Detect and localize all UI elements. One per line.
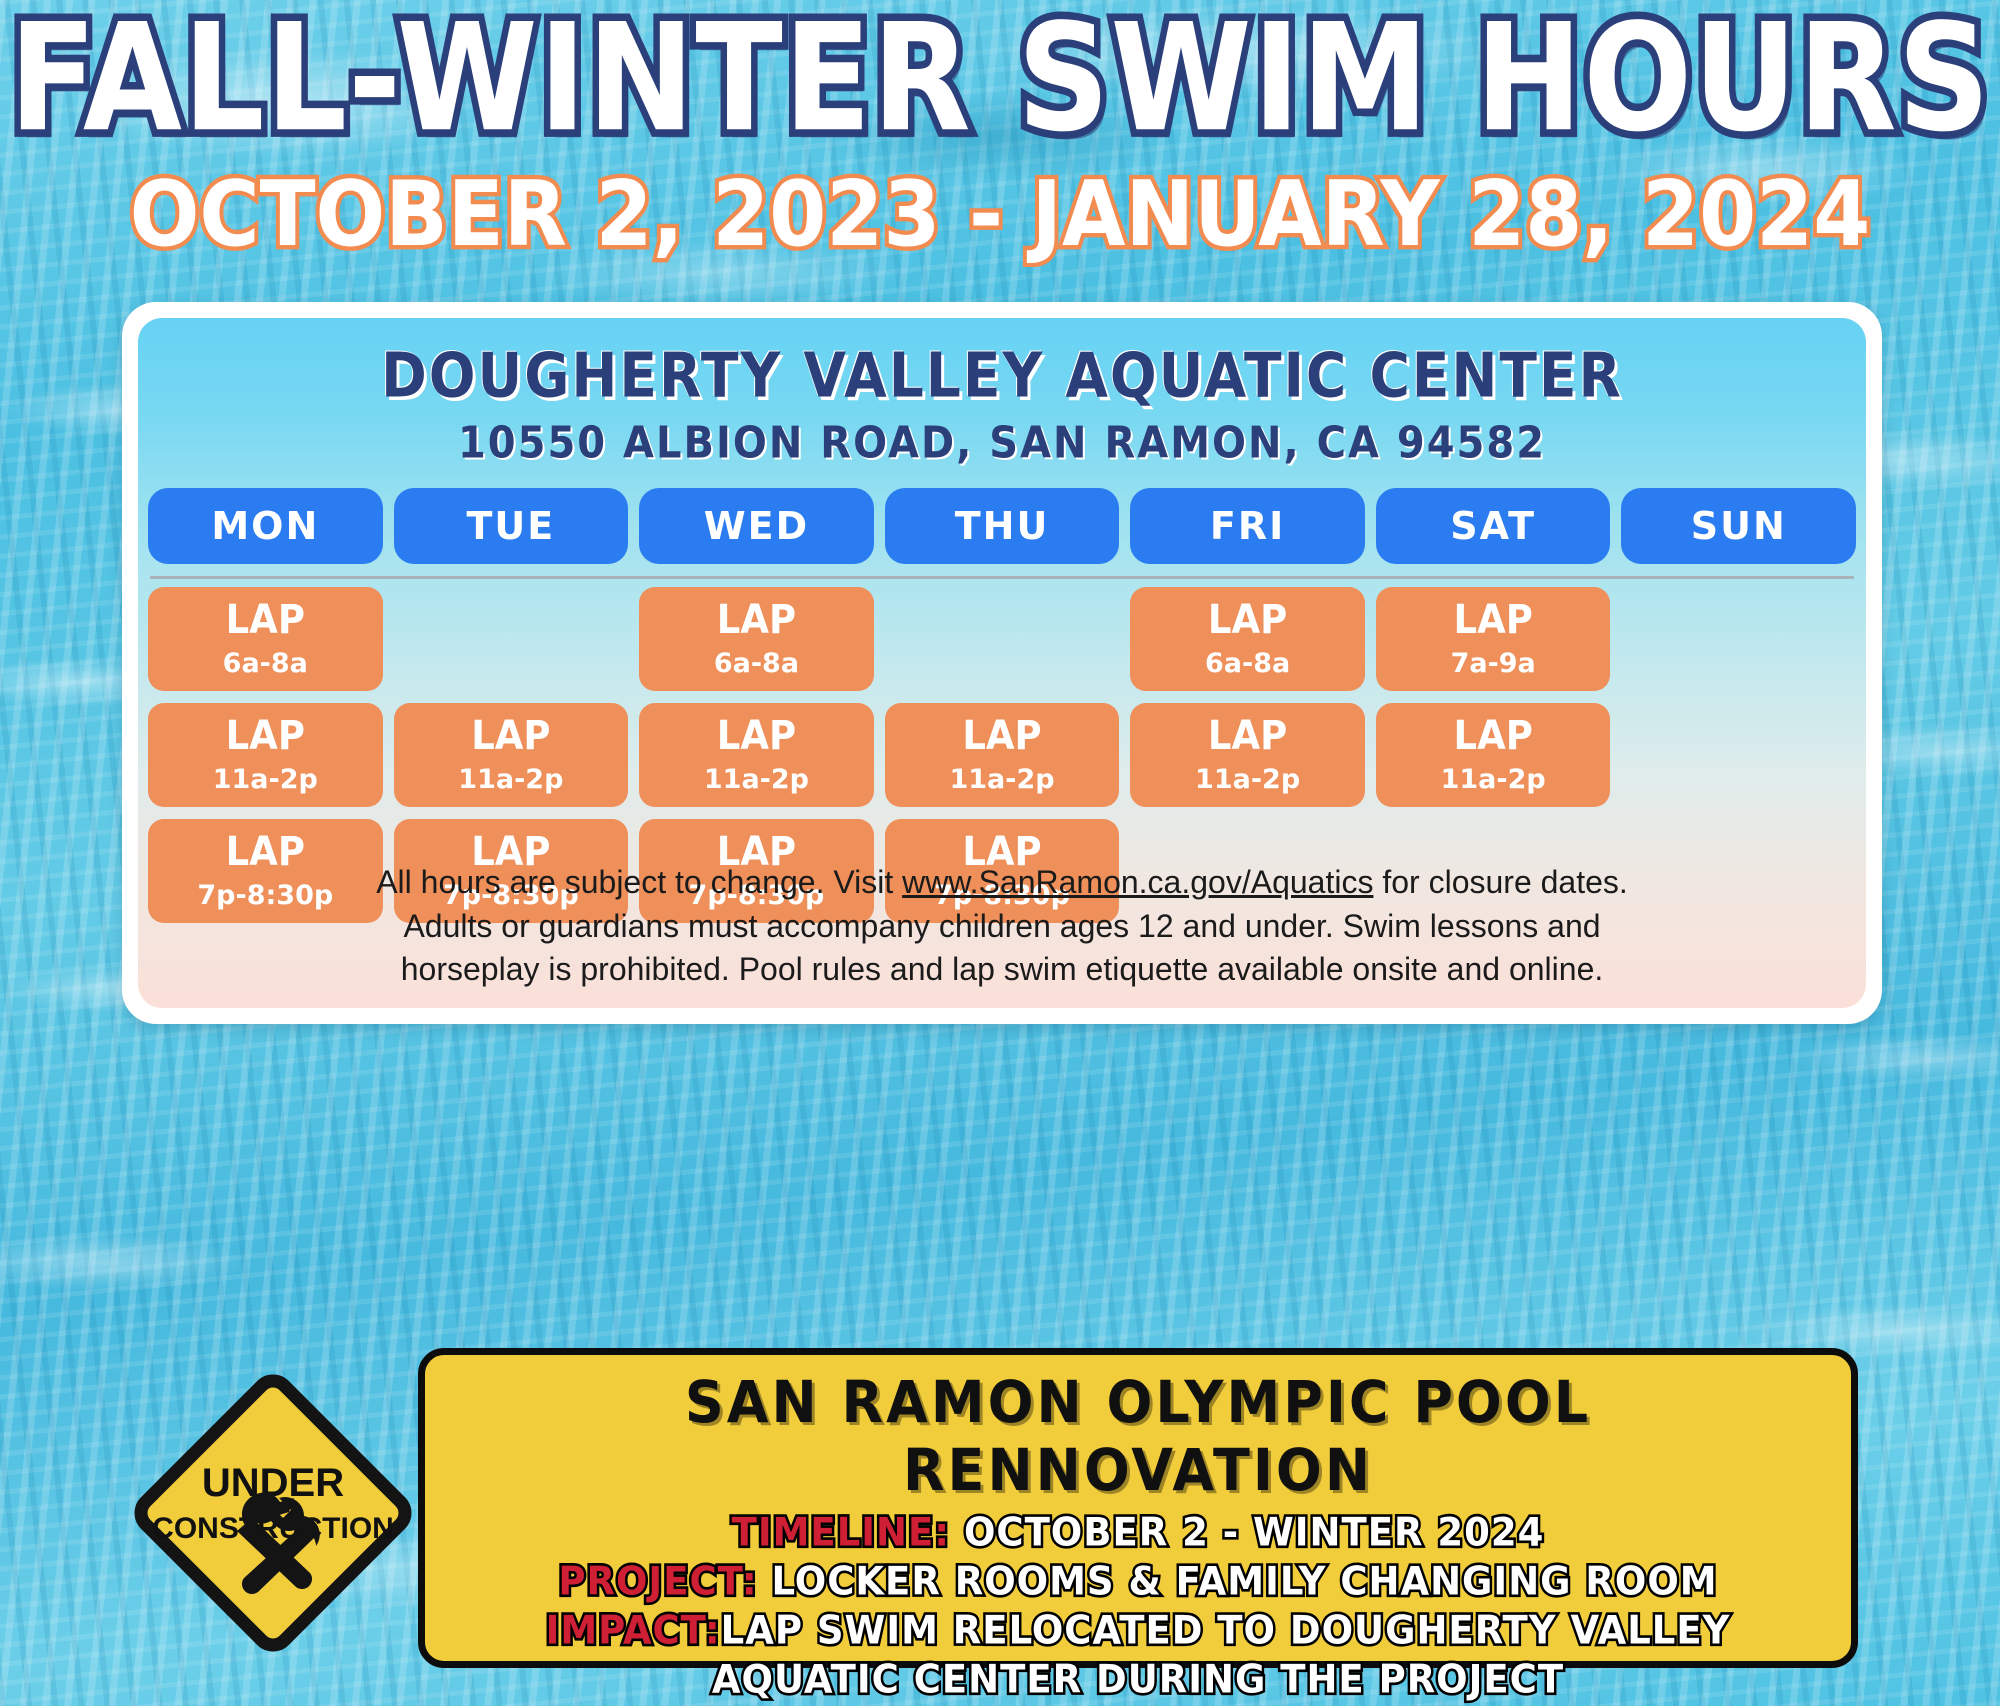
lap-swim-block-sat-1[interactable]: LAP11a-2p [1376, 703, 1611, 807]
day-header-tue[interactable]: TUE [394, 488, 629, 564]
lap-swim-block-mon-0[interactable]: LAP6a-8a [148, 587, 383, 691]
slot-cell-fri: LAP6a-8a [1130, 587, 1365, 691]
impact-label: IMPACT: [546, 1608, 721, 1654]
lap-swim-block-fri-0[interactable]: LAP6a-8a [1130, 587, 1365, 691]
schedule-card-inner: DOUGHERTY VALLEY AQUATIC CENTER 10550 AL… [138, 318, 1866, 1008]
day-header-row: MONTUEWEDTHUFRISATSUN [138, 488, 1866, 564]
schedule-row: LAP11a-2pLAP11a-2pLAP11a-2pLAP11a-2pLAP1… [148, 703, 1856, 807]
disclaimer-line1-before: All hours are subject to change. Visit [376, 864, 902, 900]
lap-swim-block-fri-1[interactable]: LAP11a-2p [1130, 703, 1365, 807]
venue-address: 10550 ALBION ROAD, SAN RAMON, CA 94582 [138, 418, 1866, 469]
slot-label: LAP [1208, 600, 1287, 640]
slot-time: 6a-8a [714, 650, 799, 677]
slot-cell-sat: LAP7a-9a [1376, 587, 1611, 691]
slot-label: LAP [962, 716, 1041, 756]
slot-cell-tue: LAP11a-2p [394, 703, 629, 807]
slot-time: 6a-8a [223, 650, 308, 677]
title-block: FALL-WINTER SWIM HOURS OCTOBER 2, 2023 -… [0, 0, 2000, 262]
slot-cell-mon: LAP6a-8a [148, 587, 383, 691]
slot-time: 11a-2p [704, 766, 809, 793]
schedule-card: DOUGHERTY VALLEY AQUATIC CENTER 10550 AL… [122, 302, 1882, 1024]
venue-name: DOUGHERTY VALLEY AQUATIC CENTER [138, 318, 1866, 411]
disclaimer-line-2: Adults or guardians must accompany child… [168, 905, 1836, 949]
lap-swim-block-sat-0[interactable]: LAP7a-9a [1376, 587, 1611, 691]
project-label: PROJECT: [558, 1559, 757, 1605]
slot-cell-thu: LAP11a-2p [885, 703, 1120, 807]
slot-cell-sat: LAP11a-2p [1376, 703, 1611, 807]
renovation-project-line: PROJECT: LOCKER ROOMS & FAMILY CHANGING … [443, 1559, 1833, 1605]
project-value: LOCKER ROOMS & FAMILY CHANGING ROOM [758, 1559, 1718, 1605]
slot-cell-mon: LAP11a-2p [148, 703, 383, 807]
schedule-row: LAP6a-8aLAP6a-8aLAP6a-8aLAP7a-9a [148, 587, 1856, 691]
disclaimer-text: All hours are subject to change. Visit w… [168, 861, 1836, 992]
lap-swim-block-thu-1[interactable]: LAP11a-2p [885, 703, 1120, 807]
timeline-value: OCTOBER 2 - WINTER 2024 [950, 1510, 1544, 1556]
timeline-label: TIMELINE: [732, 1510, 950, 1556]
day-header-thu[interactable]: THU [885, 488, 1120, 564]
slot-cell-wed: LAP6a-8a [639, 587, 874, 691]
slot-cell-empty-thu [885, 587, 1120, 691]
slot-time: 11a-2p [458, 766, 563, 793]
impact-value-2: AQUATIC CENTER DURING THE PROJECT [712, 1657, 1564, 1703]
day-header-fri[interactable]: FRI [1130, 488, 1365, 564]
slot-label: LAP [1454, 600, 1533, 640]
slot-label: LAP [717, 716, 796, 756]
renovation-impact-line: IMPACT:LAP SWIM RELOCATED TO DOUGHERTY V… [443, 1608, 1833, 1654]
slot-cell-empty-sun [1621, 587, 1856, 691]
date-range-subtitle: OCTOBER 2, 2023 - JANUARY 28, 2024 [0, 162, 2000, 267]
slot-time: 11a-2p [949, 766, 1054, 793]
slot-time: 11a-2p [213, 766, 318, 793]
slot-label: LAP [226, 716, 305, 756]
disclaimer-line1-after: for closure dates. [1373, 864, 1627, 900]
renovation-heading: SAN RAMON OLYMPIC POOL RENNOVATION [443, 1368, 1833, 1504]
slot-label: LAP [226, 600, 305, 640]
disclaimer-line-3: horseplay is prohibited. Pool rules and … [168, 948, 1836, 992]
day-header-sun[interactable]: SUN [1621, 488, 1856, 564]
slot-time: 11a-2p [1195, 766, 1300, 793]
lap-swim-block-tue-1[interactable]: LAP11a-2p [394, 703, 629, 807]
slot-time: 7a-9a [1451, 650, 1536, 677]
lap-swim-block-wed-0[interactable]: LAP6a-8a [639, 587, 874, 691]
slot-cell-empty-tue [394, 587, 629, 691]
impact-value: LAP SWIM RELOCATED TO DOUGHERTY VALLEY [721, 1608, 1731, 1654]
renovation-timeline-line: TIMELINE: OCTOBER 2 - WINTER 2024 [443, 1510, 1833, 1556]
under-construction-sign: UNDER CONSTRUCTION [128, 1368, 418, 1658]
lap-swim-block-wed-1[interactable]: LAP11a-2p [639, 703, 874, 807]
aquatics-website-link[interactable]: www.SanRamon.ca.gov/Aquatics [902, 864, 1373, 900]
disclaimer-line-1: All hours are subject to change. Visit w… [168, 861, 1836, 905]
slot-label: LAP [471, 716, 550, 756]
renovation-banner: SAN RAMON OLYMPIC POOL RENNOVATION TIMEL… [418, 1348, 1858, 1668]
slot-label: LAP [717, 600, 796, 640]
slot-cell-wed: LAP11a-2p [639, 703, 874, 807]
day-header-sat[interactable]: SAT [1376, 488, 1611, 564]
slot-time: 11a-2p [1441, 766, 1546, 793]
lap-swim-block-mon-1[interactable]: LAP11a-2p [148, 703, 383, 807]
construction-sign-icon: UNDER CONSTRUCTION [128, 1368, 418, 1658]
page-title: FALL-WINTER SWIM HOURS [0, 4, 2000, 155]
slot-label: LAP [1454, 716, 1533, 756]
slot-cell-empty-sun [1621, 703, 1856, 807]
slot-time: 6a-8a [1205, 650, 1290, 677]
slot-label: LAP [1208, 716, 1287, 756]
renovation-impact-line-2: AQUATIC CENTER DURING THE PROJECT [443, 1657, 1833, 1703]
day-header-wed[interactable]: WED [639, 488, 874, 564]
day-header-mon[interactable]: MON [148, 488, 383, 564]
slot-cell-fri: LAP11a-2p [1130, 703, 1365, 807]
